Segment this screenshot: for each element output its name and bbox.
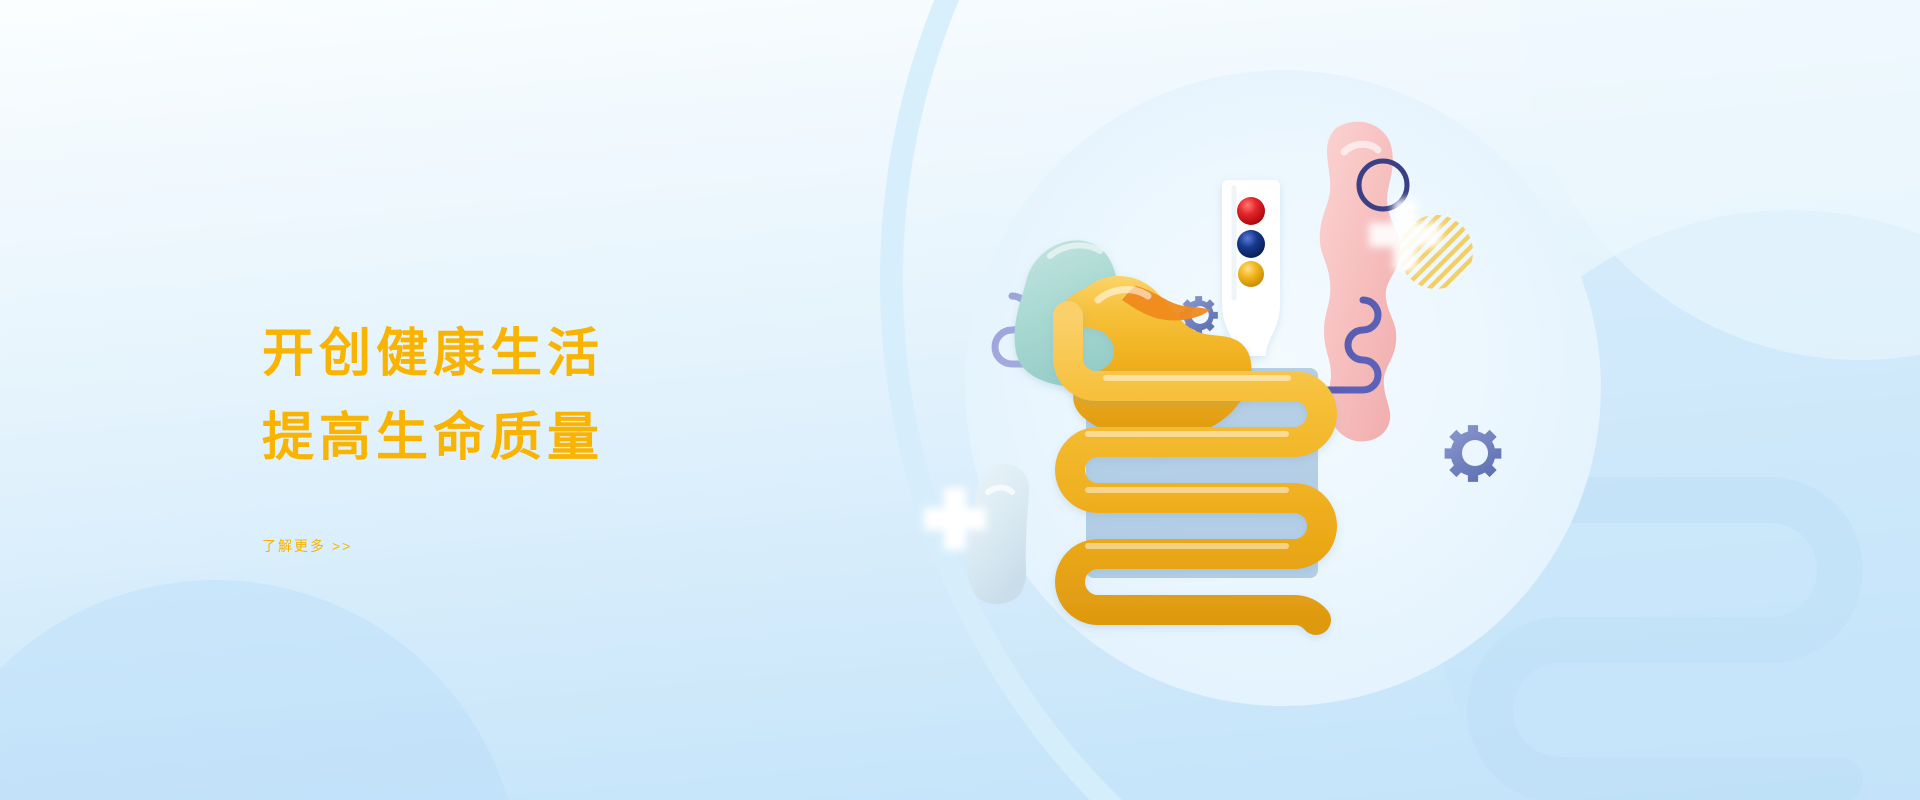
headline-line-2: 提高生命质量	[262, 396, 604, 480]
ball-navy	[1237, 230, 1265, 258]
ball-red	[1237, 197, 1265, 225]
illustration-container	[900, 0, 1700, 800]
background-circle-bottom-left	[0, 580, 520, 800]
hero-banner: 开创健康生活 提高生命质量 了解更多 >>	[0, 0, 1920, 800]
headline-line-1: 开创健康生活	[262, 312, 604, 396]
ball-gold	[1238, 261, 1264, 287]
digestive-system-illustration	[900, 0, 1700, 800]
learn-more-link[interactable]: 了解更多 >>	[262, 536, 352, 556]
hero-copy: 开创健康生活 提高生命质量 了解更多 >>	[262, 312, 604, 556]
